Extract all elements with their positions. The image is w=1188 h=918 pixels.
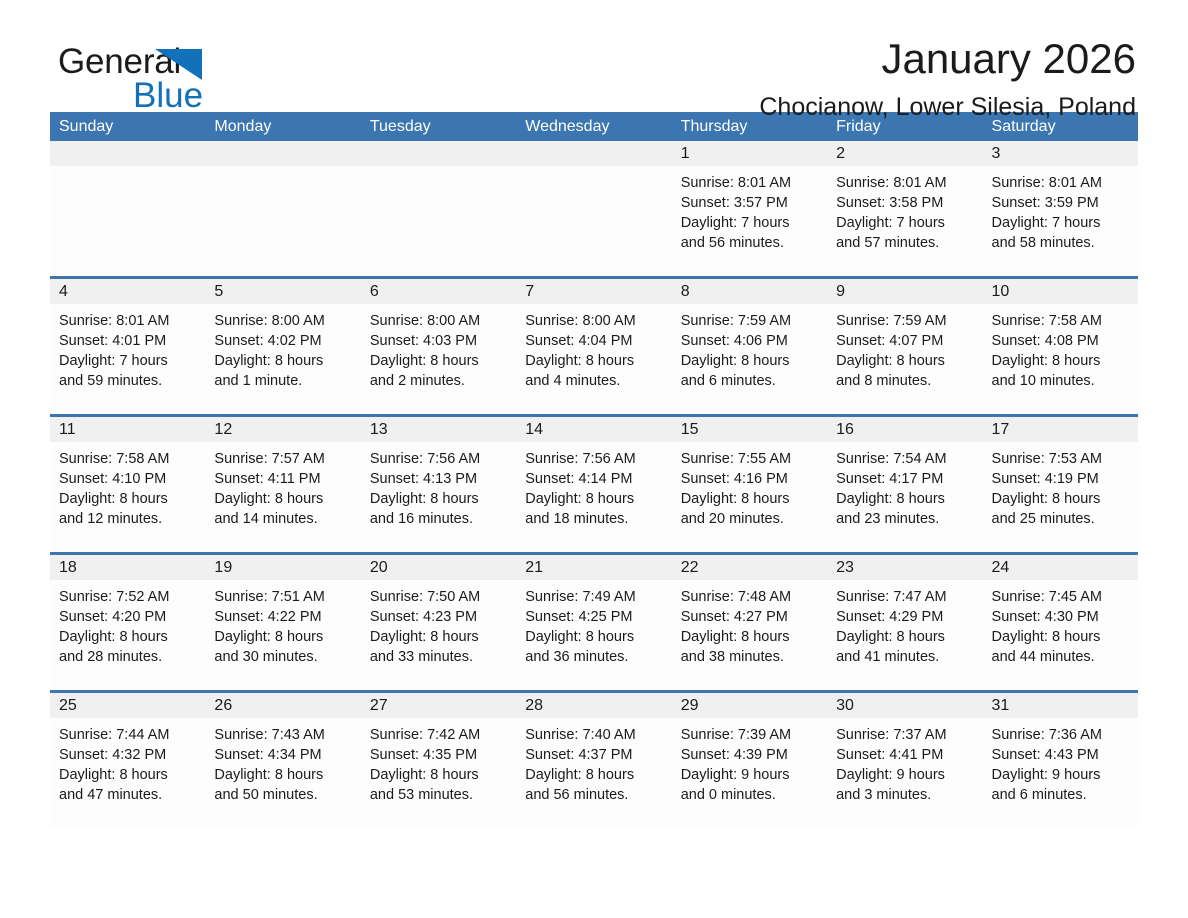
day-detail-line: Sunrise: 7:55 AM [681,449,818,469]
day-detail-line: Sunrise: 7:56 AM [370,449,507,469]
day-detail-line: and 6 minutes. [681,371,818,391]
day-detail-line: and 56 minutes. [681,233,818,253]
day-cell[interactable]: Sunrise: 7:58 AMSunset: 4:08 PMDaylight:… [983,304,1138,414]
day-detail-line: Sunset: 4:03 PM [370,331,507,351]
day-detail-line: Sunset: 4:37 PM [525,745,662,765]
day-number-band: 123 [50,141,1138,166]
week-body: Sunrise: 7:44 AMSunset: 4:32 PMDaylight:… [50,718,1138,828]
day-detail-line: Daylight: 8 hours [525,351,662,371]
day-cell[interactable]: Sunrise: 7:48 AMSunset: 4:27 PMDaylight:… [672,580,827,690]
day-cell[interactable]: Sunrise: 7:52 AMSunset: 4:20 PMDaylight:… [50,580,205,690]
day-detail-line: and 38 minutes. [681,647,818,667]
day-cell[interactable]: Sunrise: 7:54 AMSunset: 4:17 PMDaylight:… [827,442,982,552]
day-number[interactable]: 13 [361,417,516,442]
day-detail-line: Daylight: 7 hours [59,351,196,371]
day-detail-line: Sunrise: 8:00 AM [370,311,507,331]
day-cell[interactable]: Sunrise: 7:55 AMSunset: 4:16 PMDaylight:… [672,442,827,552]
day-cell[interactable]: Sunrise: 7:39 AMSunset: 4:39 PMDaylight:… [672,718,827,828]
day-detail-line: Sunrise: 7:51 AM [214,587,351,607]
page-header: General Blue January 2026 Chocianow, Low… [50,0,1138,112]
day-detail-line: Sunrise: 7:57 AM [214,449,351,469]
day-detail-line: Sunrise: 7:53 AM [992,449,1129,469]
day-detail-line: Daylight: 8 hours [992,489,1129,509]
day-detail-line: and 1 minute. [214,371,351,391]
day-cell[interactable]: Sunrise: 7:40 AMSunset: 4:37 PMDaylight:… [516,718,671,828]
day-detail-line: Daylight: 8 hours [525,489,662,509]
day-detail-line: Sunset: 4:35 PM [370,745,507,765]
day-detail-line: Daylight: 8 hours [370,489,507,509]
day-detail-line: and 6 minutes. [992,785,1129,805]
day-detail-line: and 36 minutes. [525,647,662,667]
day-detail-line: and 50 minutes. [214,785,351,805]
day-number[interactable]: 17 [983,417,1138,442]
day-cell[interactable]: Sunrise: 7:59 AMSunset: 4:06 PMDaylight:… [672,304,827,414]
day-cell[interactable]: Sunrise: 7:36 AMSunset: 4:43 PMDaylight:… [983,718,1138,828]
day-detail-line: Daylight: 8 hours [59,765,196,785]
day-detail-line: Sunset: 4:27 PM [681,607,818,627]
day-cell[interactable]: Sunrise: 7:50 AMSunset: 4:23 PMDaylight:… [361,580,516,690]
day-detail-line: Daylight: 8 hours [836,627,973,647]
day-detail-line: Sunrise: 8:01 AM [992,173,1129,193]
day-number[interactable]: 7 [516,279,671,304]
day-number[interactable]: 21 [516,555,671,580]
day-detail-line: Sunset: 4:34 PM [214,745,351,765]
day-number[interactable]: 3 [983,141,1138,166]
day-detail-line: Sunset: 4:25 PM [525,607,662,627]
day-detail-line: Sunrise: 8:01 AM [836,173,973,193]
day-detail-line: Daylight: 9 hours [836,765,973,785]
day-cell-empty [516,166,671,276]
day-detail-line: and 16 minutes. [370,509,507,529]
day-detail-line: Daylight: 8 hours [525,765,662,785]
day-detail-line: and 56 minutes. [525,785,662,805]
day-detail-line: Daylight: 8 hours [992,351,1129,371]
day-cell[interactable]: Sunrise: 7:56 AMSunset: 4:13 PMDaylight:… [361,442,516,552]
day-detail-line: Sunrise: 7:42 AM [370,725,507,745]
day-number[interactable]: 5 [205,279,360,304]
day-detail-line: Sunrise: 7:40 AM [525,725,662,745]
day-detail-line: and 58 minutes. [992,233,1129,253]
day-cell[interactable]: Sunrise: 7:43 AMSunset: 4:34 PMDaylight:… [205,718,360,828]
day-detail-line: Sunrise: 7:36 AM [992,725,1129,745]
day-number[interactable]: 9 [827,279,982,304]
day-cell-empty [50,166,205,276]
calendar-page: General Blue January 2026 Chocianow, Low… [0,0,1188,918]
day-detail-line: Sunset: 4:02 PM [214,331,351,351]
day-number[interactable]: 14 [516,417,671,442]
day-detail-line: and 59 minutes. [59,371,196,391]
page-title: January 2026 [436,34,1136,84]
day-number-empty [361,141,516,166]
day-cell[interactable]: Sunrise: 7:57 AMSunset: 4:11 PMDaylight:… [205,442,360,552]
day-number[interactable]: 29 [672,693,827,718]
calendar-weeks: 123Sunrise: 8:01 AMSunset: 3:57 PMDaylig… [50,141,1138,828]
day-detail-line: Sunset: 4:08 PM [992,331,1129,351]
calendar-week-row: 123Sunrise: 8:01 AMSunset: 3:57 PMDaylig… [50,141,1138,276]
day-detail-line: Sunrise: 7:54 AM [836,449,973,469]
week-body: Sunrise: 7:52 AMSunset: 4:20 PMDaylight:… [50,580,1138,690]
day-detail-line: Sunset: 4:41 PM [836,745,973,765]
week-body: Sunrise: 8:01 AMSunset: 3:57 PMDaylight:… [50,166,1138,276]
day-detail-line: Sunset: 4:29 PM [836,607,973,627]
day-detail-line: Sunset: 4:11 PM [214,469,351,489]
generalblue-logo[interactable]: General Blue [58,42,258,118]
day-detail-line: Daylight: 8 hours [836,351,973,371]
day-detail-line: and 0 minutes. [681,785,818,805]
day-number-band: 11121314151617 [50,417,1138,442]
day-detail-line: Daylight: 7 hours [992,213,1129,233]
day-number-empty [516,141,671,166]
day-detail-line: Sunset: 4:23 PM [370,607,507,627]
day-detail-line: Daylight: 8 hours [214,765,351,785]
day-number[interactable]: 2 [827,141,982,166]
day-detail-line: Sunset: 4:10 PM [59,469,196,489]
day-detail-line: Sunrise: 7:47 AM [836,587,973,607]
day-detail-line: Daylight: 8 hours [214,351,351,371]
day-cell[interactable]: Sunrise: 7:44 AMSunset: 4:32 PMDaylight:… [50,718,205,828]
day-detail-line: Daylight: 7 hours [836,213,973,233]
logo-text-blue: Blue [133,76,203,116]
day-detail-line: Sunrise: 7:44 AM [59,725,196,745]
day-cell[interactable]: Sunrise: 7:56 AMSunset: 4:14 PMDaylight:… [516,442,671,552]
day-detail-line: Sunrise: 7:39 AM [681,725,818,745]
day-detail-line: Sunrise: 7:59 AM [836,311,973,331]
day-detail-line: Daylight: 8 hours [59,489,196,509]
day-cell[interactable]: Sunrise: 7:37 AMSunset: 4:41 PMDaylight:… [827,718,982,828]
day-cell[interactable]: Sunrise: 7:42 AMSunset: 4:35 PMDaylight:… [361,718,516,828]
day-detail-line: and 57 minutes. [836,233,973,253]
day-detail-line: Sunrise: 7:45 AM [992,587,1129,607]
day-number[interactable]: 20 [361,555,516,580]
day-number[interactable]: 23 [827,555,982,580]
day-number[interactable]: 18 [50,555,205,580]
day-cell[interactable]: Sunrise: 8:01 AMSunset: 3:59 PMDaylight:… [983,166,1138,276]
location-subtitle: Chocianow, Lower Silesia, Poland [436,90,1136,124]
day-detail-line: Sunset: 4:39 PM [681,745,818,765]
day-detail-line: Daylight: 8 hours [214,627,351,647]
day-detail-line: and 28 minutes. [59,647,196,667]
day-detail-line: and 10 minutes. [992,371,1129,391]
day-detail-line: and 25 minutes. [992,509,1129,529]
title-block: January 2026 Chocianow, Lower Silesia, P… [436,34,1136,124]
calendar-week-row: 18192021222324Sunrise: 7:52 AMSunset: 4:… [50,552,1138,690]
day-detail-line: Sunrise: 7:49 AM [525,587,662,607]
day-detail-line: Sunset: 4:04 PM [525,331,662,351]
day-number[interactable]: 31 [983,693,1138,718]
day-detail-line: and 2 minutes. [370,371,507,391]
day-detail-line: Sunrise: 7:58 AM [992,311,1129,331]
day-cell[interactable]: Sunrise: 8:00 AMSunset: 4:03 PMDaylight:… [361,304,516,414]
day-detail-line: and 53 minutes. [370,785,507,805]
day-detail-line: and 33 minutes. [370,647,507,667]
day-detail-line: Sunset: 4:22 PM [214,607,351,627]
day-cell[interactable]: Sunrise: 8:01 AMSunset: 4:01 PMDaylight:… [50,304,205,414]
day-detail-line: and 20 minutes. [681,509,818,529]
day-detail-line: Daylight: 8 hours [681,627,818,647]
day-detail-line: Sunset: 4:20 PM [59,607,196,627]
day-detail-line: Sunset: 4:30 PM [992,607,1129,627]
day-detail-line: and 3 minutes. [836,785,973,805]
day-number[interactable]: 30 [827,693,982,718]
day-number[interactable]: 26 [205,693,360,718]
day-detail-line: Daylight: 8 hours [370,351,507,371]
day-cell-empty [205,166,360,276]
day-cell[interactable]: Sunrise: 7:59 AMSunset: 4:07 PMDaylight:… [827,304,982,414]
day-number[interactable]: 19 [205,555,360,580]
day-detail-line: and 8 minutes. [836,371,973,391]
day-detail-line: Sunset: 4:19 PM [992,469,1129,489]
day-detail-line: Sunrise: 7:43 AM [214,725,351,745]
day-number[interactable]: 16 [827,417,982,442]
day-detail-line: and 18 minutes. [525,509,662,529]
day-detail-line: and 41 minutes. [836,647,973,667]
calendar-week-row: 45678910Sunrise: 8:01 AMSunset: 4:01 PMD… [50,276,1138,414]
day-detail-line: Sunrise: 8:01 AM [681,173,818,193]
day-detail-line: Sunrise: 7:58 AM [59,449,196,469]
day-number[interactable]: 12 [205,417,360,442]
day-detail-line: Sunrise: 8:01 AM [59,311,196,331]
day-number-band: 25262728293031 [50,693,1138,718]
day-detail-line: and 30 minutes. [214,647,351,667]
day-detail-line: Sunrise: 7:56 AM [525,449,662,469]
calendar-week-row: 11121314151617Sunrise: 7:58 AMSunset: 4:… [50,414,1138,552]
day-detail-line: Daylight: 8 hours [59,627,196,647]
day-number[interactable]: 10 [983,279,1138,304]
day-number-band: 45678910 [50,279,1138,304]
day-detail-line: Sunset: 4:06 PM [681,331,818,351]
day-detail-line: Sunrise: 7:50 AM [370,587,507,607]
day-cell[interactable]: Sunrise: 7:47 AMSunset: 4:29 PMDaylight:… [827,580,982,690]
day-number[interactable]: 28 [516,693,671,718]
day-cell[interactable]: Sunrise: 7:58 AMSunset: 4:10 PMDaylight:… [50,442,205,552]
day-number-empty [205,141,360,166]
day-cell[interactable]: Sunrise: 8:01 AMSunset: 3:58 PMDaylight:… [827,166,982,276]
day-detail-line: Daylight: 8 hours [681,489,818,509]
calendar-week-row: 25262728293031Sunrise: 7:44 AMSunset: 4:… [50,690,1138,828]
day-detail-line: and 4 minutes. [525,371,662,391]
day-detail-line: Daylight: 8 hours [370,765,507,785]
week-body: Sunrise: 8:01 AMSunset: 4:01 PMDaylight:… [50,304,1138,414]
day-cell-empty [361,166,516,276]
day-detail-line: Sunset: 4:13 PM [370,469,507,489]
day-number[interactable]: 6 [361,279,516,304]
day-detail-line: Daylight: 9 hours [992,765,1129,785]
day-detail-line: and 47 minutes. [59,785,196,805]
day-detail-line: Daylight: 8 hours [214,489,351,509]
day-cell[interactable]: Sunrise: 8:01 AMSunset: 3:57 PMDaylight:… [672,166,827,276]
day-number[interactable]: 1 [672,141,827,166]
day-detail-line: Sunrise: 7:37 AM [836,725,973,745]
day-detail-line: and 12 minutes. [59,509,196,529]
day-detail-line: Sunrise: 7:59 AM [681,311,818,331]
day-detail-line: Sunrise: 8:00 AM [525,311,662,331]
day-detail-line: Daylight: 8 hours [681,351,818,371]
day-detail-line: Sunset: 4:07 PM [836,331,973,351]
day-detail-line: Sunset: 4:16 PM [681,469,818,489]
day-cell[interactable]: Sunrise: 8:00 AMSunset: 4:02 PMDaylight:… [205,304,360,414]
day-number[interactable]: 8 [672,279,827,304]
day-detail-line: Sunrise: 7:48 AM [681,587,818,607]
day-detail-line: Daylight: 8 hours [836,489,973,509]
day-detail-line: Daylight: 8 hours [992,627,1129,647]
day-number[interactable]: 4 [50,279,205,304]
day-detail-line: Sunset: 4:14 PM [525,469,662,489]
calendar-table: SundayMondayTuesdayWednesdayThursdayFrid… [50,112,1138,828]
day-detail-line: Sunset: 4:01 PM [59,331,196,351]
day-detail-line: Sunset: 3:59 PM [992,193,1129,213]
day-number[interactable]: 11 [50,417,205,442]
day-detail-line: Daylight: 9 hours [681,765,818,785]
day-detail-line: Daylight: 8 hours [525,627,662,647]
day-detail-line: Sunrise: 8:00 AM [214,311,351,331]
day-detail-line: Sunset: 4:43 PM [992,745,1129,765]
day-number-empty [50,141,205,166]
week-body: Sunrise: 7:58 AMSunset: 4:10 PMDaylight:… [50,442,1138,552]
day-cell[interactable]: Sunrise: 7:45 AMSunset: 4:30 PMDaylight:… [983,580,1138,690]
day-detail-line: and 23 minutes. [836,509,973,529]
day-number[interactable]: 24 [983,555,1138,580]
day-detail-line: Daylight: 8 hours [370,627,507,647]
day-detail-line: and 44 minutes. [992,647,1129,667]
day-detail-line: Sunset: 3:57 PM [681,193,818,213]
day-detail-line: Sunset: 3:58 PM [836,193,973,213]
day-number[interactable]: 22 [672,555,827,580]
day-number-band: 18192021222324 [50,555,1138,580]
day-cell[interactable]: Sunrise: 7:51 AMSunset: 4:22 PMDaylight:… [205,580,360,690]
day-detail-line: Sunrise: 7:52 AM [59,587,196,607]
day-detail-line: Daylight: 7 hours [681,213,818,233]
day-cell[interactable]: Sunrise: 8:00 AMSunset: 4:04 PMDaylight:… [516,304,671,414]
day-number[interactable]: 27 [361,693,516,718]
day-cell[interactable]: Sunrise: 7:53 AMSunset: 4:19 PMDaylight:… [983,442,1138,552]
day-detail-line: Sunset: 4:32 PM [59,745,196,765]
day-cell[interactable]: Sunrise: 7:49 AMSunset: 4:25 PMDaylight:… [516,580,671,690]
day-detail-line: Sunset: 4:17 PM [836,469,973,489]
day-number[interactable]: 15 [672,417,827,442]
day-number[interactable]: 25 [50,693,205,718]
day-detail-line: and 14 minutes. [214,509,351,529]
